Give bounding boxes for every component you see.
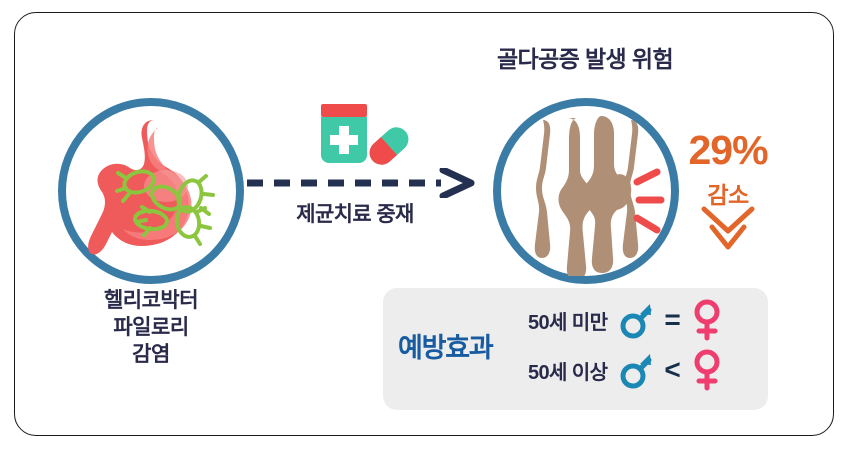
- effect-row-over50: 50세 이상 <: [528, 348, 722, 392]
- male-gender-icon: [619, 300, 653, 340]
- female-gender-icon: [692, 349, 722, 391]
- medicine-bottle-and-capsule-icon: [307, 100, 411, 178]
- effect-row-comparator: <: [664, 356, 680, 384]
- effect-row-comparator: =: [664, 306, 680, 334]
- stomach-with-bacteria-icon: [66, 106, 236, 276]
- knee-joint-circle: [493, 98, 679, 284]
- effect-row-under50: 50세 미만 =: [528, 298, 722, 342]
- intervention-label: 제균치료 중재: [243, 198, 467, 228]
- knee-joint-bone-icon: [501, 106, 671, 276]
- double-chevron-down-icon: [692, 203, 764, 253]
- page-title: 골다공증 발생 위험: [420, 40, 750, 74]
- effect-row-label: 50세 미만: [528, 306, 607, 335]
- stomach-circle: [58, 98, 244, 284]
- prevention-effect-title: 예방효과: [398, 326, 493, 365]
- risk-reduction-value: 29%: [668, 127, 788, 174]
- effect-row-label: 50세 이상: [528, 356, 607, 385]
- male-gender-icon: [619, 350, 653, 390]
- left-caption: 헬리코박터 파일로리 감염: [58, 288, 244, 369]
- female-gender-icon: [692, 299, 722, 341]
- dashed-right-arrow-icon: [243, 168, 479, 198]
- infographic-canvas: 헬리코박터 파일로리 감염 제균치료 중재 골다공증 발생 위험: [0, 0, 850, 450]
